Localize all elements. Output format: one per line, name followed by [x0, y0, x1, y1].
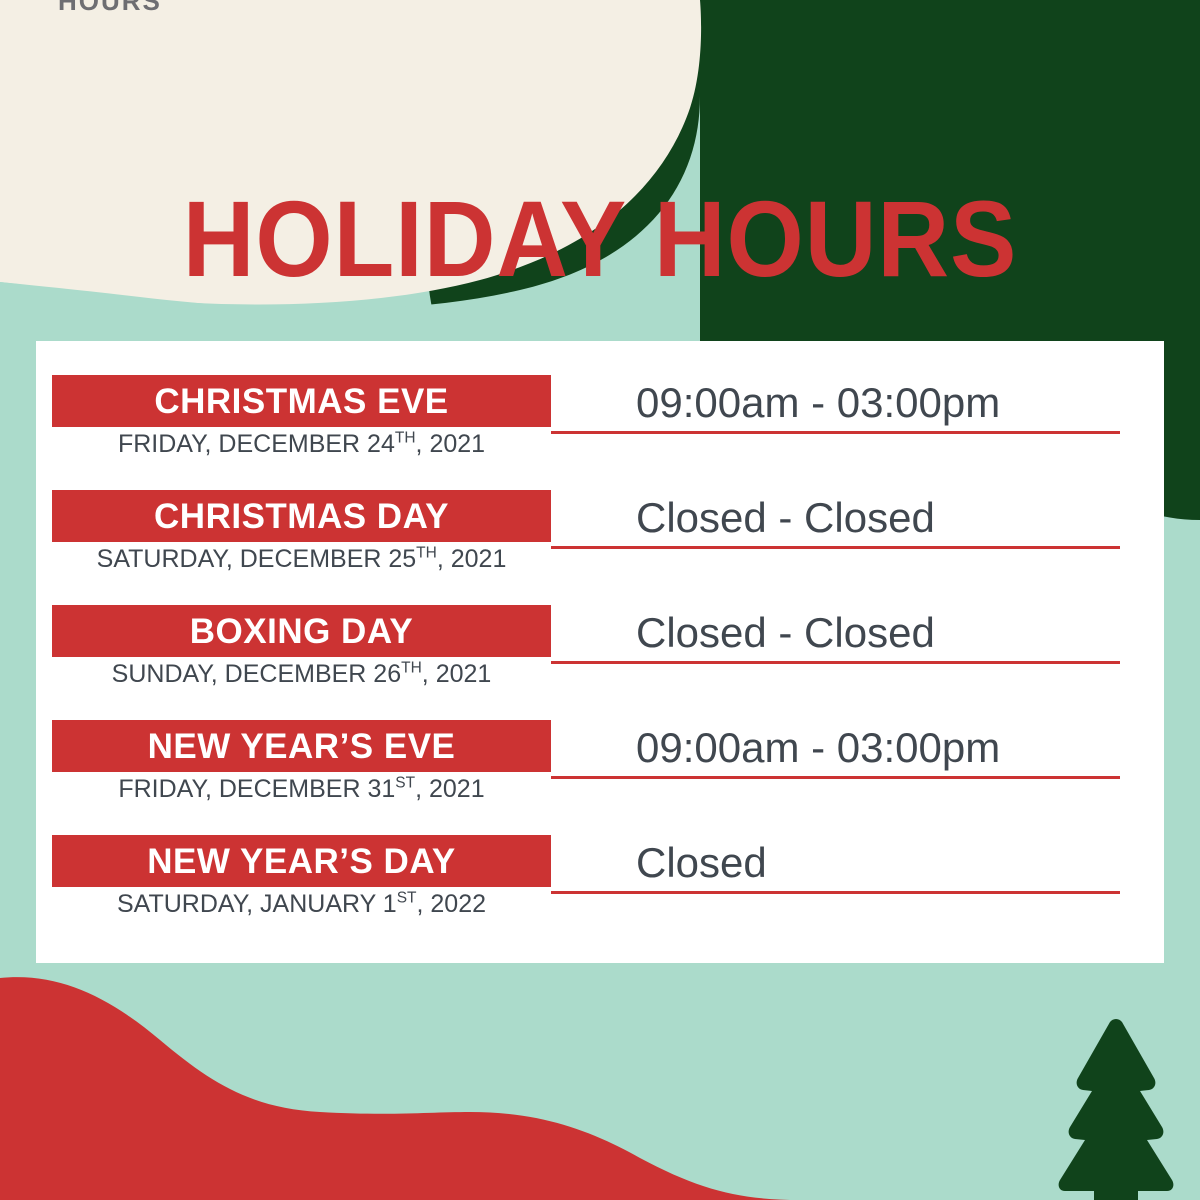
- holiday-name-bar: NEW YEAR’S EVE: [52, 720, 551, 772]
- holiday-date-weekday: SATURDAY, JANUARY 1: [117, 890, 397, 918]
- holiday-date-year: , 2021: [437, 545, 507, 573]
- holiday-date-year: , 2022: [417, 890, 487, 918]
- holiday-hours-text: Closed - Closed: [636, 612, 935, 654]
- holiday-hours-value: Closed - Closed: [636, 492, 1156, 544]
- holiday-date-ordinal: TH: [416, 545, 437, 562]
- holiday-date-ordinal: ST: [397, 890, 417, 907]
- holiday-date: FRIDAY, DECEMBER 24TH, 2021: [52, 431, 551, 459]
- holiday-hours-value: Closed: [636, 837, 1156, 889]
- holiday-name-bar: BOXING DAY: [52, 605, 551, 657]
- hours-underline: [551, 431, 1120, 434]
- holiday-date-weekday: FRIDAY, DECEMBER 24: [118, 430, 395, 458]
- holiday-date: FRIDAY, DECEMBER 31ST, 2021: [52, 776, 551, 804]
- hours-row: NEW YEAR’S DAY SATURDAY, JANUARY 1ST, 20…: [36, 835, 1164, 950]
- holiday-name: NEW YEAR’S DAY: [147, 844, 455, 879]
- holiday-date-weekday: FRIDAY, DECEMBER 31: [118, 775, 395, 803]
- holiday-hours-poster: HOURS HOLIDAY HOURS CHRISTMAS EVE FRIDAY…: [0, 0, 1200, 1200]
- holiday-hours-value: 09:00am - 03:00pm: [636, 377, 1156, 429]
- holiday-date-ordinal: ST: [395, 775, 415, 792]
- holiday-name-bar: CHRISTMAS EVE: [52, 375, 551, 427]
- hours-underline: [551, 776, 1120, 779]
- top-clipped-text: HOURS: [58, 0, 162, 17]
- holiday-hours-value: 09:00am - 03:00pm: [636, 722, 1156, 774]
- holiday-name: BOXING DAY: [190, 614, 413, 649]
- holiday-date-ordinal: TH: [395, 430, 416, 447]
- holiday-date-ordinal: TH: [401, 660, 422, 677]
- holiday-date-weekday: SUNDAY, DECEMBER 26: [112, 660, 401, 688]
- holiday-name: CHRISTMAS EVE: [154, 384, 448, 419]
- holiday-hours-value: Closed - Closed: [636, 607, 1156, 659]
- holiday-hours-text: 09:00am - 03:00pm: [636, 382, 1000, 424]
- hours-underline: [551, 891, 1120, 894]
- hours-list: CHRISTMAS EVE FRIDAY, DECEMBER 24TH, 202…: [36, 341, 1164, 963]
- hours-row: NEW YEAR’S EVE FRIDAY, DECEMBER 31ST, 20…: [36, 720, 1164, 835]
- hours-row: CHRISTMAS DAY SATURDAY, DECEMBER 25TH, 2…: [36, 490, 1164, 605]
- holiday-date-year: , 2021: [416, 430, 486, 458]
- holiday-name-bar: NEW YEAR’S DAY: [52, 835, 551, 887]
- holiday-name: CHRISTMAS DAY: [154, 499, 449, 534]
- holiday-hours-text: 09:00am - 03:00pm: [636, 727, 1000, 769]
- holiday-name: NEW YEAR’S EVE: [148, 729, 456, 764]
- holiday-date: SUNDAY, DECEMBER 26TH, 2021: [52, 661, 551, 689]
- holiday-date-weekday: SATURDAY, DECEMBER 25: [97, 545, 417, 573]
- holiday-date: SATURDAY, JANUARY 1ST, 2022: [52, 891, 551, 919]
- hours-underline: [551, 546, 1120, 549]
- holiday-date-year: , 2021: [422, 660, 492, 688]
- holiday-date-year: , 2021: [415, 775, 485, 803]
- hours-card: CHRISTMAS EVE FRIDAY, DECEMBER 24TH, 202…: [36, 341, 1164, 963]
- holiday-hours-text: Closed: [636, 842, 767, 884]
- page-title: HOLIDAY HOURS: [48, 185, 1152, 293]
- holiday-date: SATURDAY, DECEMBER 25TH, 2021: [52, 546, 551, 574]
- holiday-hours-text: Closed - Closed: [636, 497, 935, 539]
- hours-row: BOXING DAY SUNDAY, DECEMBER 26TH, 2021 C…: [36, 605, 1164, 720]
- hours-underline: [551, 661, 1120, 664]
- holiday-name-bar: CHRISTMAS DAY: [52, 490, 551, 542]
- hours-row: CHRISTMAS EVE FRIDAY, DECEMBER 24TH, 202…: [36, 375, 1164, 490]
